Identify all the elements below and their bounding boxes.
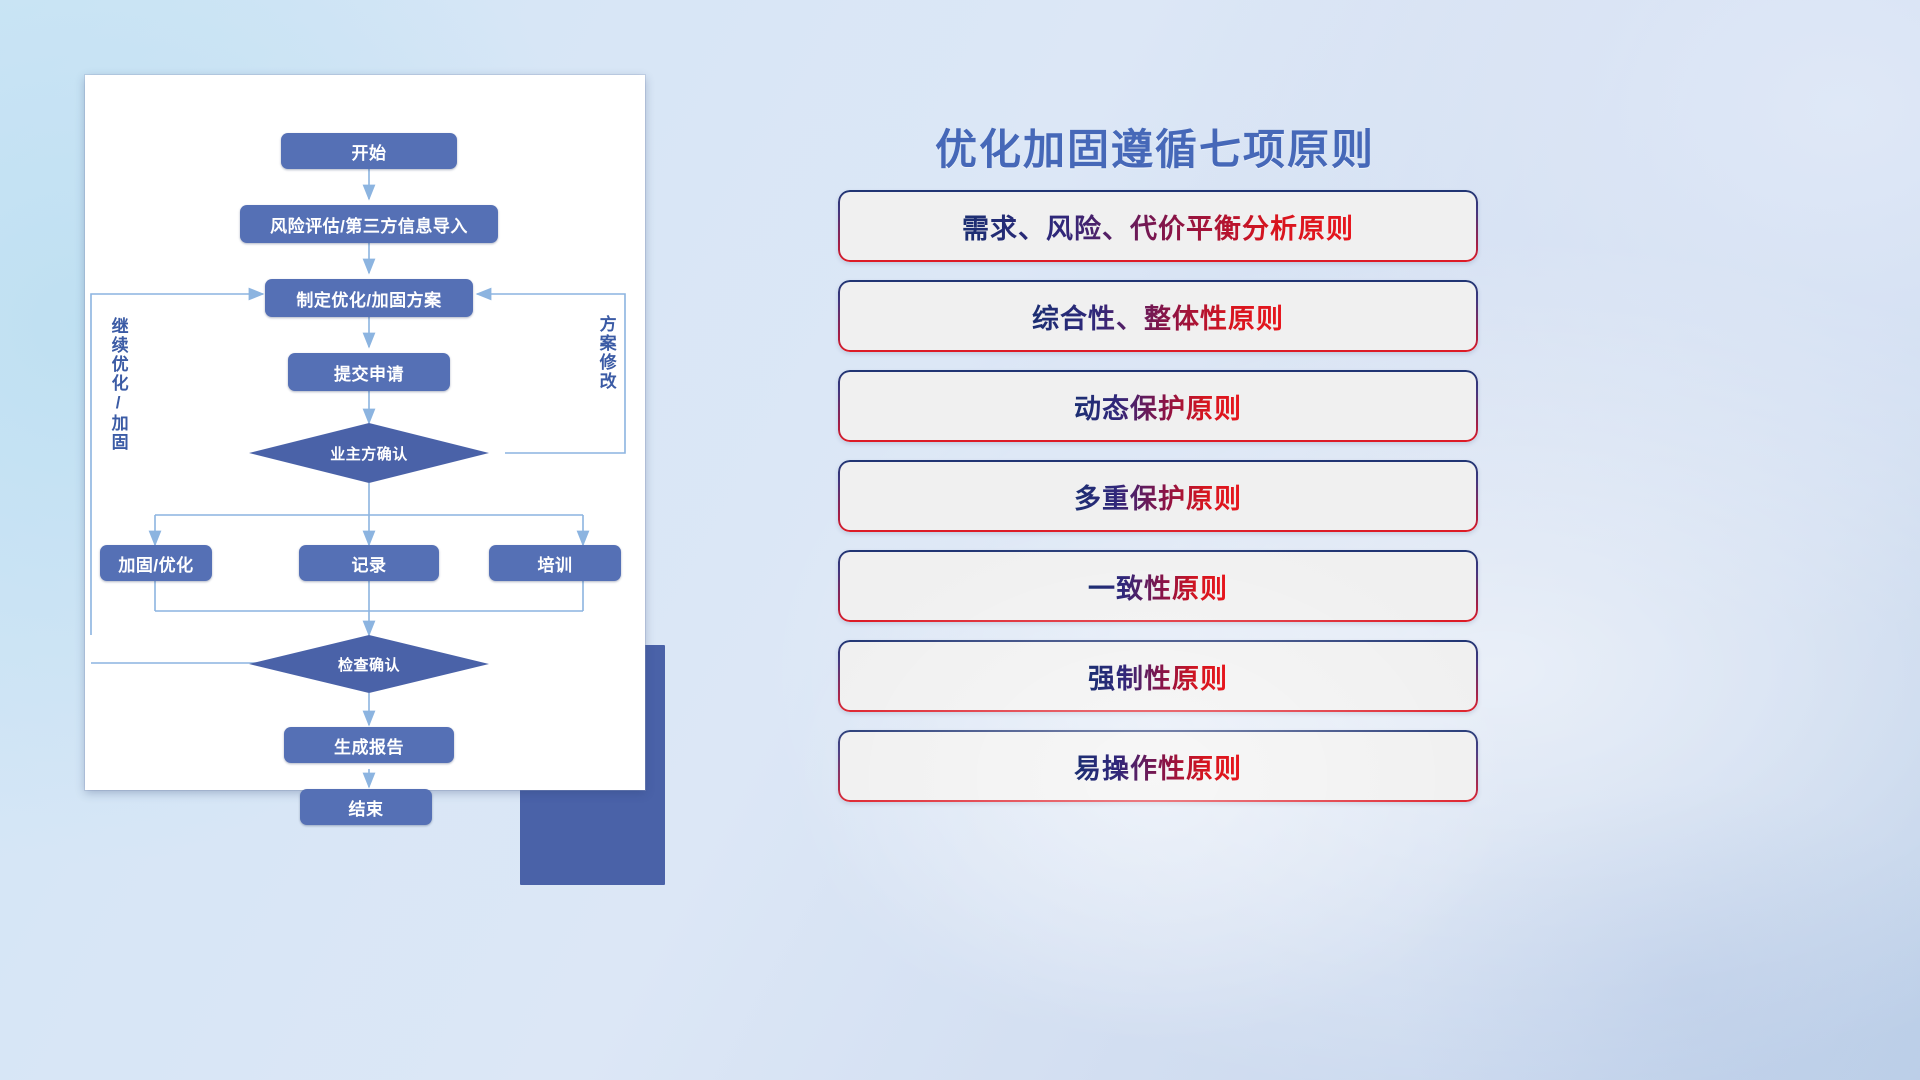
principle-label: 易操作性原则 — [1074, 747, 1242, 786]
principle-label: 动态保护原则 — [1074, 387, 1242, 426]
principle-label: 综合性、整体性原则 — [1032, 297, 1284, 336]
principle-label: 强制性原则 — [1088, 657, 1228, 696]
principle-card-7[interactable]: 易操作性原则 — [838, 730, 1478, 802]
flow-edge-label-continue-optimize: 继续优化/加固 — [109, 317, 127, 477]
flow-node-generate-report[interactable]: 生成报告 — [284, 727, 454, 763]
principles-list: 需求、风险、代价平衡分析原则 综合性、整体性原则 动态保护原则 多重保护原则 一… — [838, 190, 1478, 820]
principle-card-4[interactable]: 多重保护原则 — [838, 460, 1478, 532]
flow-node-end[interactable]: 结束 — [300, 789, 432, 825]
flow-node-check-confirm-label: 检查确认 — [338, 654, 400, 675]
principle-label: 需求、风险、代价平衡分析原则 — [962, 207, 1354, 246]
flow-node-start[interactable]: 开始 — [281, 133, 457, 169]
flow-node-reinforce[interactable]: 加固/优化 — [100, 545, 212, 581]
principle-card-3[interactable]: 动态保护原则 — [838, 370, 1478, 442]
slide-canvas: 开始 风险评估/第三方信息导入 制定优化/加固方案 提交申请 业主方确认 加固/… — [0, 0, 1920, 1080]
page-title: 优化加固遵循七项原则 — [935, 116, 1375, 177]
flow-node-risk-assessment[interactable]: 风险评估/第三方信息导入 — [240, 205, 498, 243]
flow-node-submit-application[interactable]: 提交申请 — [288, 353, 450, 391]
principle-card-2[interactable]: 综合性、整体性原则 — [838, 280, 1478, 352]
principle-label: 一致性原则 — [1088, 567, 1228, 606]
flow-node-check-confirm[interactable]: 检查确认 — [249, 635, 489, 693]
flow-node-plan[interactable]: 制定优化/加固方案 — [265, 279, 473, 317]
flowchart-card: 开始 风险评估/第三方信息导入 制定优化/加固方案 提交申请 业主方确认 加固/… — [85, 75, 645, 790]
flow-node-record[interactable]: 记录 — [299, 545, 439, 581]
flowchart-panel: 开始 风险评估/第三方信息导入 制定优化/加固方案 提交申请 业主方确认 加固/… — [85, 75, 665, 815]
flow-node-owner-confirm-label: 业主方确认 — [330, 443, 408, 464]
principle-card-6[interactable]: 强制性原则 — [838, 640, 1478, 712]
principle-label: 多重保护原则 — [1074, 477, 1242, 516]
flow-node-owner-confirm[interactable]: 业主方确认 — [249, 423, 489, 483]
flow-edge-label-plan-revision: 方案修改 — [597, 315, 615, 425]
principle-card-5[interactable]: 一致性原则 — [838, 550, 1478, 622]
principle-card-1[interactable]: 需求、风险、代价平衡分析原则 — [838, 190, 1478, 262]
flow-node-training[interactable]: 培训 — [489, 545, 621, 581]
